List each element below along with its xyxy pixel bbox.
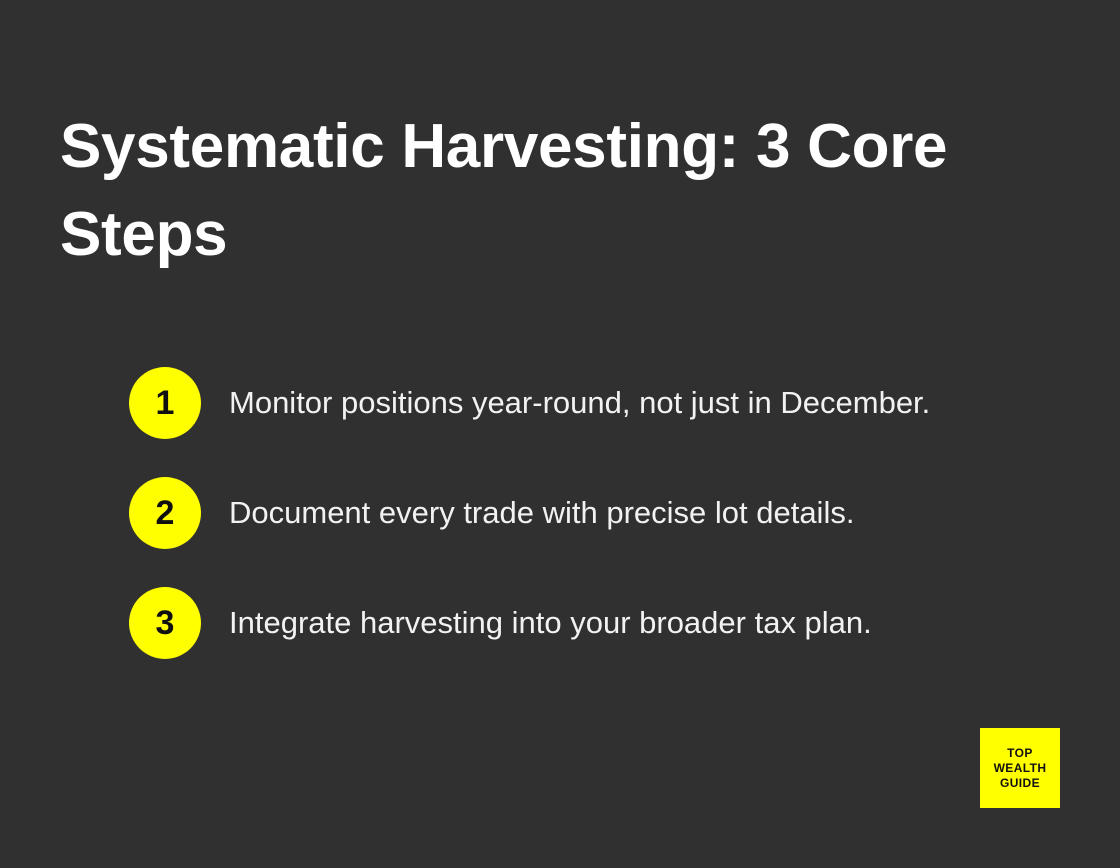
brand-logo-line-2: WEALTH — [994, 761, 1047, 776]
list-item: 3 Integrate harvesting into your broader… — [129, 587, 1059, 659]
slide-canvas: Systematic Harvesting: 3 Core Steps 1 Mo… — [0, 0, 1120, 868]
list-item: 2 Document every trade with precise lot … — [129, 477, 1059, 549]
step-description: Document every trade with precise lot de… — [229, 494, 1059, 532]
brand-logo: TOP WEALTH GUIDE — [980, 728, 1060, 808]
step-number-badge: 2 — [129, 477, 201, 549]
step-number-badge: 1 — [129, 367, 201, 439]
steps-list: 1 Monitor positions year-round, not just… — [129, 367, 1059, 659]
brand-logo-line-3: GUIDE — [1000, 776, 1040, 791]
step-description: Monitor positions year-round, not just i… — [229, 384, 1059, 422]
step-description: Integrate harvesting into your broader t… — [229, 604, 1059, 642]
brand-logo-line-1: TOP — [1007, 746, 1033, 761]
step-number-badge: 3 — [129, 587, 201, 659]
list-item: 1 Monitor positions year-round, not just… — [129, 367, 1059, 439]
page-title: Systematic Harvesting: 3 Core Steps — [60, 103, 1020, 279]
